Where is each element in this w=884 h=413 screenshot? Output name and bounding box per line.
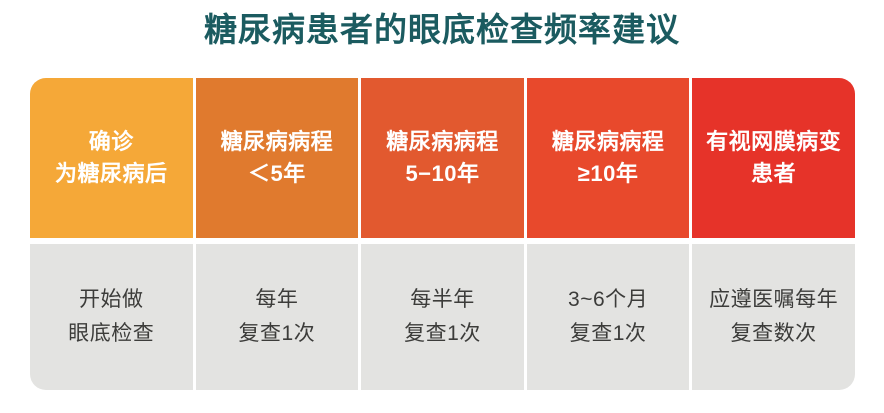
table-header-cell-3: 糖尿病病程 5−10年 xyxy=(361,78,524,238)
table-body-cell-4: 3~6个月 复查1次 xyxy=(527,244,690,390)
table-header-cell-3-label: 糖尿病病程 5−10年 xyxy=(386,126,499,190)
table-body-cell-3-label: 每半年 复查1次 xyxy=(404,283,481,351)
table-body-cell-5-label: 应遵医嘱每年 复查数次 xyxy=(709,283,838,351)
table-header-row: 确诊 为糖尿病后 糖尿病病程 ＜5年 糖尿病病程 5−10年 糖尿病病程 ≥10… xyxy=(30,78,855,238)
table-header-cell-2-label: 糖尿病病程 ＜5年 xyxy=(221,126,334,190)
table-header-cell-4-label: 糖尿病病程 ≥10年 xyxy=(552,126,665,190)
table-body-cell-2-label: 每年 复查1次 xyxy=(239,283,316,351)
recommendation-table: 确诊 为糖尿病后 糖尿病病程 ＜5年 糖尿病病程 5−10年 糖尿病病程 ≥10… xyxy=(30,78,855,390)
table-header-cell-2: 糖尿病病程 ＜5年 xyxy=(196,78,359,238)
table-header-cell-4: 糖尿病病程 ≥10年 xyxy=(527,78,690,238)
table-body-row: 开始做 眼底检查 每年 复查1次 每半年 复查1次 3~6个月 复查1次 应遵医… xyxy=(30,244,855,390)
table-header-cell-5: 有视网膜病变 患者 xyxy=(692,78,855,238)
page-title-container: 糖尿病患者的眼底检查频率建议 xyxy=(0,8,884,52)
table-header-cell-1-label: 确诊 为糖尿病后 xyxy=(55,126,168,190)
table-body-cell-1: 开始做 眼底检查 xyxy=(30,244,193,390)
page-title: 糖尿病患者的眼底检查频率建议 xyxy=(204,8,680,52)
table-body-cell-2: 每年 复查1次 xyxy=(196,244,359,390)
table-body-cell-3: 每半年 复查1次 xyxy=(361,244,524,390)
table-body-cell-4-label: 3~6个月 复查1次 xyxy=(568,283,648,351)
table-body-cell-5: 应遵医嘱每年 复查数次 xyxy=(692,244,855,390)
table-body-cell-1-label: 开始做 眼底检查 xyxy=(68,283,154,351)
table-header-cell-5-label: 有视网膜病变 患者 xyxy=(706,126,841,190)
infographic-root: 糖尿病患者的眼底检查频率建议 确诊 为糖尿病后 糖尿病病程 ＜5年 糖尿病病程 … xyxy=(0,0,884,413)
table-header-cell-1: 确诊 为糖尿病后 xyxy=(30,78,193,238)
